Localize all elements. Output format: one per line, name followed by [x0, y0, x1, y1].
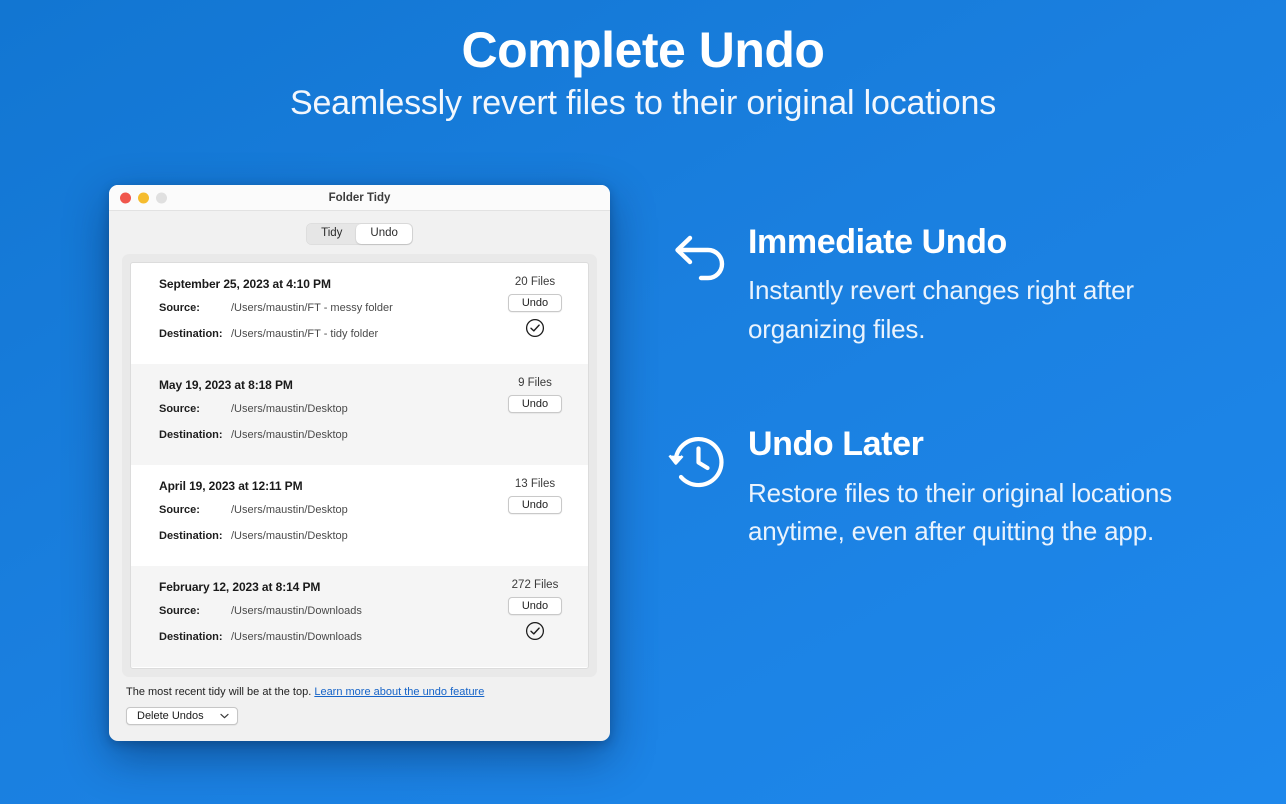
entry-destination-row: Destination: /Users/maustin/Desktop: [159, 427, 572, 444]
feature-title: Immediate Undo: [748, 224, 1248, 261]
source-value: /Users/maustin/Desktop: [231, 502, 348, 519]
feature-list: Immediate Undo Instantly revert changes …: [668, 224, 1248, 629]
tab-bar: Tidy Undo: [122, 223, 597, 245]
feature-text: Immediate Undo Instantly revert changes …: [748, 224, 1248, 348]
completed-check-icon: [496, 621, 574, 641]
table-row[interactable]: September 25, 2023 at 4:10 PM Source: /U…: [131, 263, 588, 364]
file-count: 272 Files: [496, 579, 574, 591]
feature-text: Undo Later Restore files to their origin…: [748, 426, 1248, 550]
destination-label: Destination:: [159, 326, 231, 343]
zoom-button: [156, 192, 167, 203]
app-window: Folder Tidy Tidy Undo September 25, 2023…: [109, 185, 610, 741]
table-row[interactable]: May 19, 2023 at 8:18 PM Source: /Users/m…: [131, 364, 588, 465]
delete-undos-dropdown[interactable]: Delete Undos: [126, 707, 238, 725]
footer-note-row: The most recent tidy will be at the top.…: [126, 686, 595, 698]
window-titlebar: Folder Tidy: [109, 185, 610, 211]
source-label: Source:: [159, 502, 231, 519]
source-label: Source:: [159, 603, 231, 620]
tab-undo[interactable]: Undo: [356, 224, 412, 244]
tab-tidy[interactable]: Tidy: [307, 224, 356, 244]
window-body: Tidy Undo September 25, 2023 at 4:10 PM …: [109, 211, 610, 741]
table-row[interactable]: April 19, 2023 at 12:11 PM Source: /User…: [131, 465, 588, 566]
minimize-button[interactable]: [138, 192, 149, 203]
close-button[interactable]: [120, 192, 131, 203]
file-count: 13 Files: [496, 478, 574, 490]
entry-actions: 20 Files Undo: [496, 276, 574, 338]
source-value: /Users/maustin/Downloads: [231, 603, 362, 620]
page-header: Complete Undo Seamlessly revert files to…: [0, 0, 1286, 123]
feature-title: Undo Later: [748, 426, 1248, 463]
destination-value: /Users/maustin/Desktop: [231, 528, 348, 545]
undo-list-panel: September 25, 2023 at 4:10 PM Source: /U…: [122, 254, 597, 677]
destination-value: /Users/maustin/Desktop: [231, 427, 348, 444]
undo-button[interactable]: Undo: [508, 496, 562, 514]
delete-undos-label: Delete Undos: [137, 710, 204, 722]
undo-button[interactable]: Undo: [508, 395, 562, 413]
window-title: Folder Tidy: [109, 192, 610, 204]
undo-button[interactable]: Undo: [508, 597, 562, 615]
undo-button[interactable]: Undo: [508, 294, 562, 312]
file-count: 20 Files: [496, 276, 574, 288]
window-footer: The most recent tidy will be at the top.…: [122, 677, 597, 725]
learn-more-link[interactable]: Learn more about the undo feature: [314, 686, 484, 698]
entry-actions: 9 Files Undo: [496, 377, 574, 413]
page-subtitle: Seamlessly revert files to their origina…: [0, 84, 1286, 123]
segmented-control: Tidy Undo: [306, 223, 413, 245]
file-count: 9 Files: [496, 377, 574, 389]
source-label: Source:: [159, 401, 231, 418]
feature-immediate-undo: Immediate Undo Instantly revert changes …: [668, 224, 1248, 348]
entry-destination-row: Destination: /Users/maustin/Desktop: [159, 528, 572, 545]
page-title: Complete Undo: [0, 22, 1286, 78]
destination-value: /Users/maustin/Downloads: [231, 629, 362, 646]
destination-value: /Users/maustin/FT - tidy folder: [231, 326, 378, 343]
table-row[interactable]: February 12, 2023 at 8:14 PM Source: /Us…: [131, 566, 588, 667]
source-label: Source:: [159, 300, 231, 317]
clock-history-icon: [668, 426, 748, 550]
undo-list[interactable]: September 25, 2023 at 4:10 PM Source: /U…: [130, 262, 589, 669]
destination-label: Destination:: [159, 427, 231, 444]
chevron-down-icon: [220, 710, 229, 722]
traffic-lights: [120, 192, 167, 203]
feature-undo-later: Undo Later Restore files to their origin…: [668, 426, 1248, 550]
source-value: /Users/maustin/FT - messy folder: [231, 300, 393, 317]
source-value: /Users/maustin/Desktop: [231, 401, 348, 418]
completed-check-icon: [496, 318, 574, 338]
entry-actions: 13 Files Undo: [496, 478, 574, 514]
footer-note: The most recent tidy will be at the top.: [126, 686, 311, 698]
destination-label: Destination:: [159, 528, 231, 545]
undo-arrow-icon: [668, 224, 748, 348]
destination-label: Destination:: [159, 629, 231, 646]
stage: Folder Tidy Tidy Undo September 25, 2023…: [0, 182, 1286, 782]
entry-actions: 272 Files Undo: [496, 579, 574, 641]
feature-description: Instantly revert changes right after org…: [748, 271, 1248, 348]
feature-description: Restore files to their original location…: [748, 474, 1248, 551]
